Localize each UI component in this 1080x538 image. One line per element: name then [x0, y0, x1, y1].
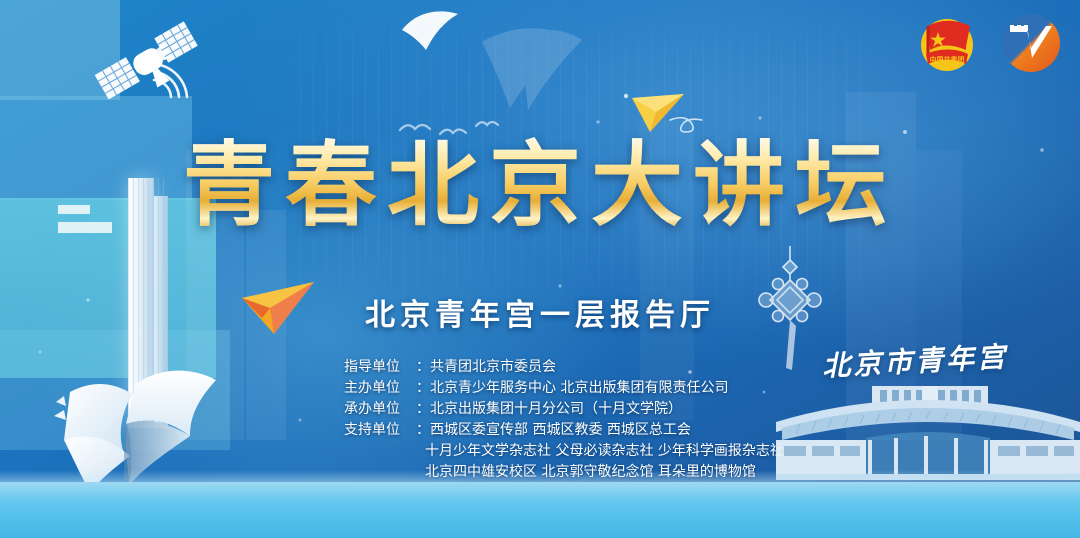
organizer-credits: 指导单位：共青团北京市委员会主办单位：北京青少年服务中心 北京出版集团有限责任公…: [344, 357, 784, 483]
credit-label: 支持单位: [344, 420, 416, 441]
water-band: [0, 482, 1080, 538]
credit-label: 承办单位: [344, 399, 416, 420]
logo-group: 中国共青团: [916, 12, 1062, 74]
poster-canvas: 青春北京大讲坛 青春北京大讲坛 北京青年宫一层报告厅 指导单位：共青团北京市委员…: [0, 0, 1080, 538]
credit-row: 指导单位：共青团北京市委员会: [344, 357, 784, 378]
venue-building-illustration: [776, 378, 1080, 496]
beijing-youth-v-logo: [1000, 12, 1062, 74]
floating-pages-icon: [400, 4, 630, 124]
communist-youth-league-emblem: 中国共青团: [916, 12, 978, 74]
svg-text:中国共青团: 中国共青团: [930, 55, 965, 64]
credit-colon: ：: [416, 378, 430, 399]
credit-row: 支持单位：西城区委宣传部 西城区教委 西城区总工会: [344, 420, 784, 441]
credit-colon: ：: [416, 420, 430, 441]
credit-continuation: 十月少年文学杂志社 父母必读杂志社 少年科学画报杂志社: [344, 441, 784, 462]
credit-value: 西城区委宣传部 西城区教委 西城区总工会: [430, 420, 691, 441]
credit-label: 主办单位: [344, 378, 416, 399]
credit-value: 共青团北京市委员会: [430, 357, 556, 378]
decor-block-top: [0, 0, 120, 100]
poster-title: 青春北京大讲坛: [0, 137, 1080, 234]
venue-calligraphy: 北京市青年宫: [821, 335, 1009, 385]
credit-label: 指导单位: [344, 357, 416, 378]
credit-row: 主办单位：北京青少年服务中心 北京出版集团有限责任公司: [344, 378, 784, 399]
satellite-icon: [86, 18, 206, 118]
decor-block-lower: [0, 330, 230, 450]
credit-continuation: 北京四中雄安校区 北京郭守敬纪念馆 耳朵里的博物馆: [344, 462, 784, 483]
credit-colon: ：: [416, 399, 430, 420]
credit-value: 北京出版集团十月分公司（十月文学院）: [430, 399, 682, 420]
open-book-illustration: [40, 358, 248, 508]
credit-colon: ：: [416, 357, 430, 378]
credit-row: 承办单位：北京出版集团十月分公司（十月文学院）: [344, 399, 784, 420]
credit-value: 北京青少年服务中心 北京出版集团有限责任公司: [430, 378, 728, 399]
poster-subtitle: 北京青年宫一层报告厅: [0, 290, 1080, 334]
